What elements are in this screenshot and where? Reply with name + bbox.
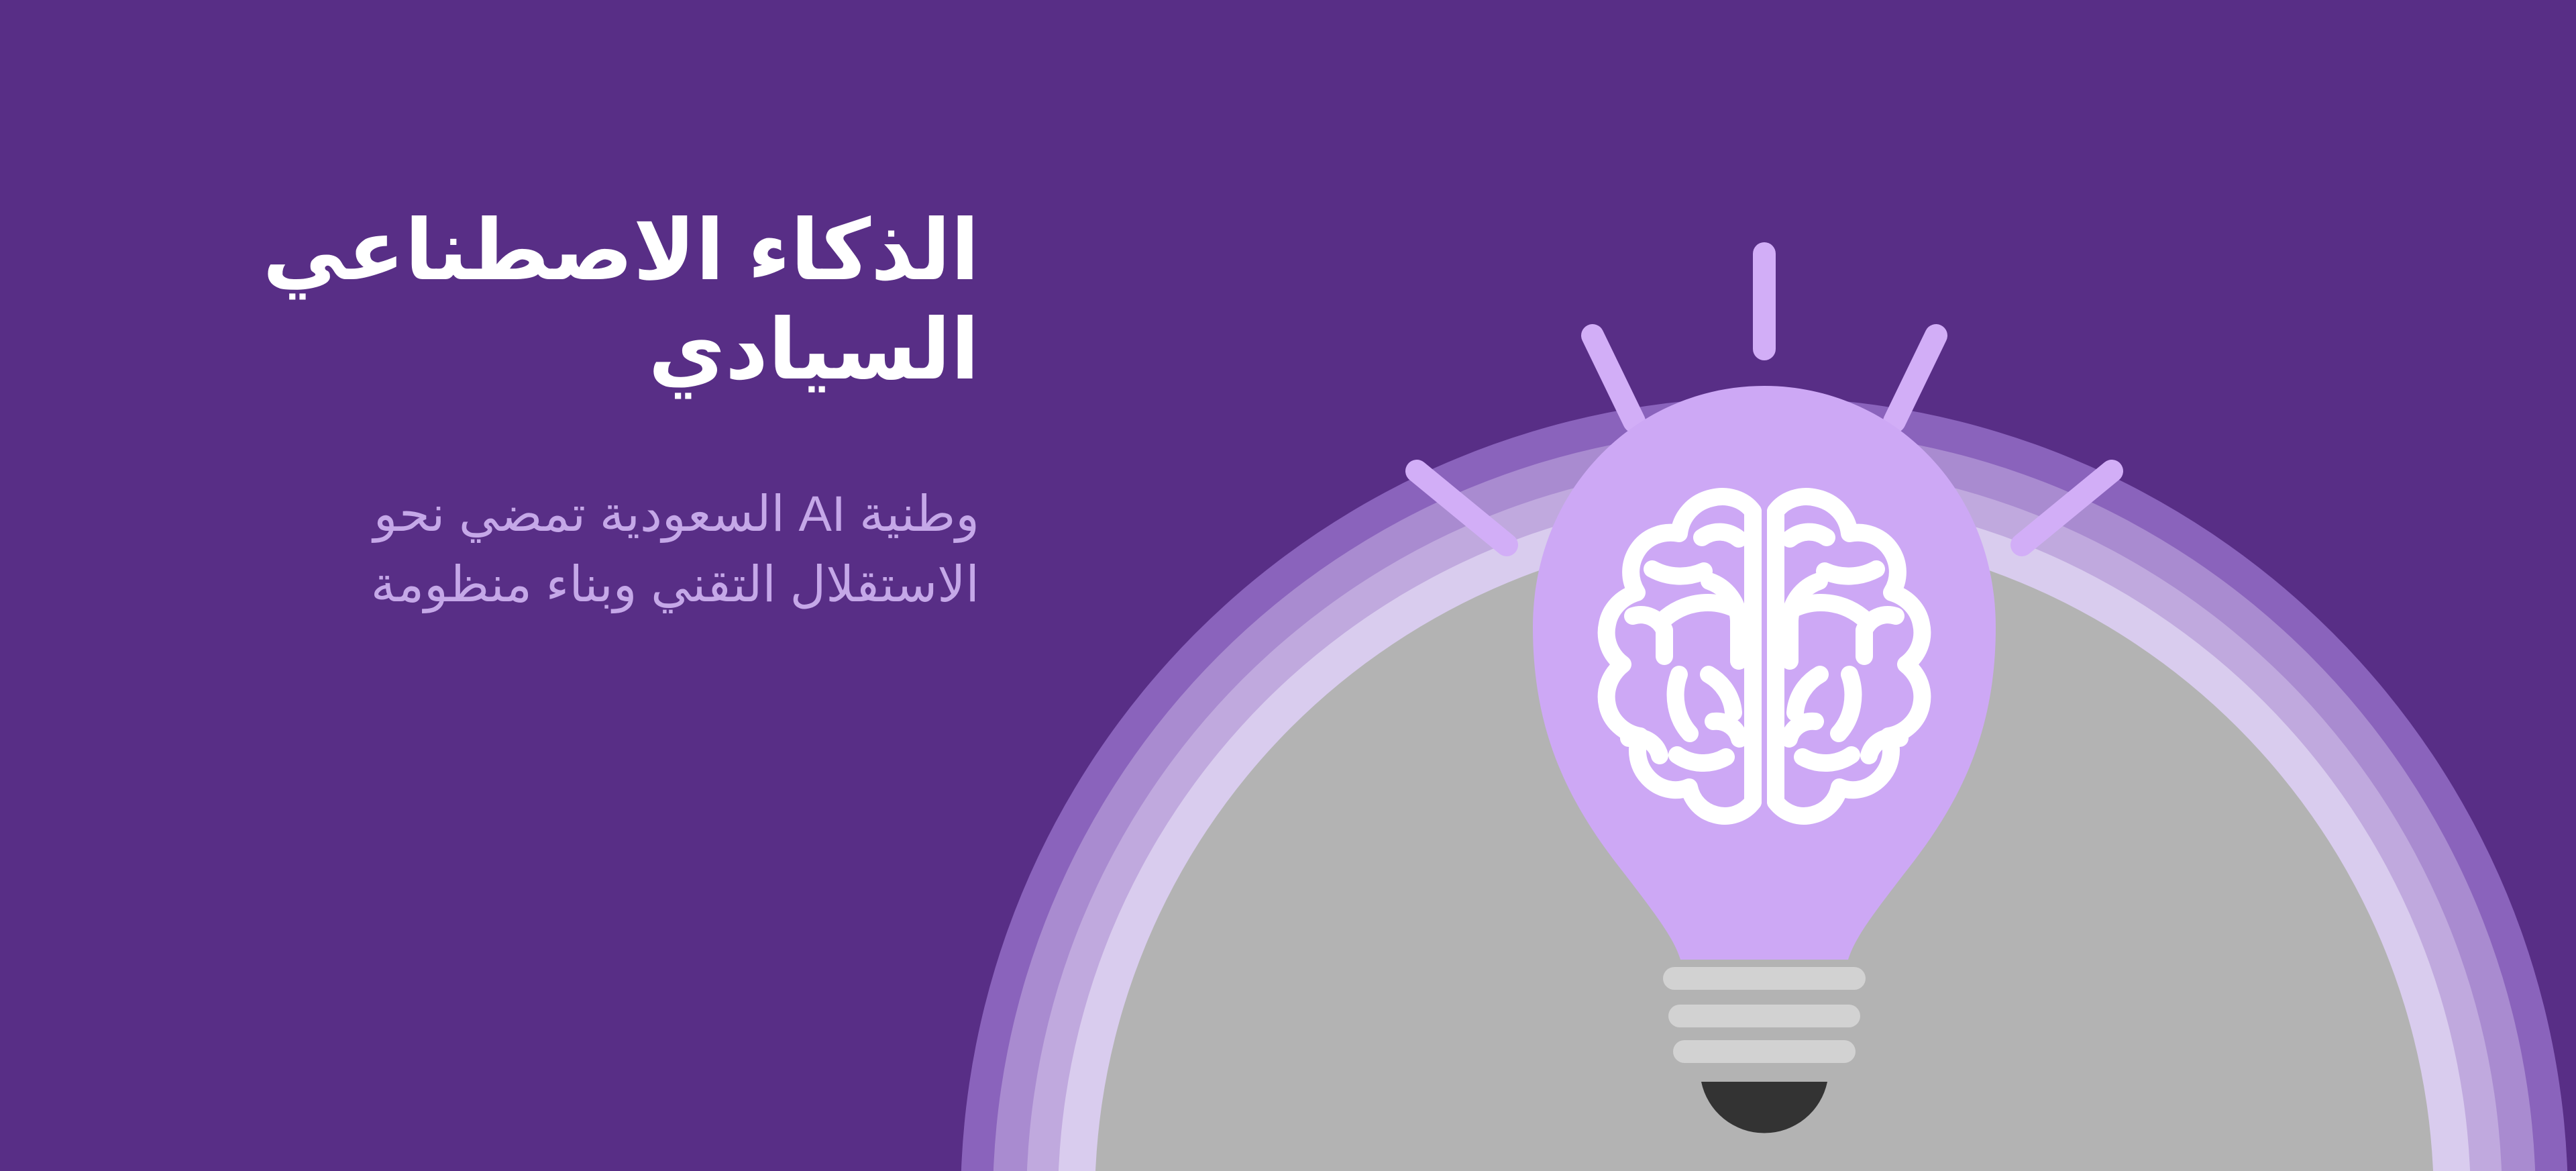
glow-ring-outer	[961, 397, 2568, 1171]
brain-left-fold-10	[1713, 721, 1739, 739]
brain-right-fold-1	[1790, 532, 1827, 539]
brain-right-fold-8	[1869, 737, 1900, 756]
ai-banner: الذكاء الاصطناعي السيادي وطنية AI السعود…	[0, 0, 2576, 1171]
brain-right-fold-2	[1825, 569, 1876, 576]
glow-ring-4	[1058, 495, 2471, 1171]
glow-inner-disc	[1095, 531, 2434, 1171]
brain-right-fold-4	[1864, 615, 1896, 656]
brain-right-fold-9	[1803, 755, 1851, 763]
bulb-tip	[1701, 1082, 1827, 1133]
text-block: الذكاء الاصطناعي السيادي وطنية AI السعود…	[252, 201, 979, 619]
brain-left-fold-8	[1629, 737, 1660, 756]
brain-left-fold-9	[1677, 755, 1726, 763]
brain-left-fold-5	[1662, 603, 1739, 621]
ray-left-icon	[1417, 471, 1507, 545]
ray-top-left-icon	[1593, 336, 1634, 421]
brain-right-outline	[1776, 497, 1922, 816]
brain-right-fold-10	[1789, 721, 1815, 739]
glow-ring-3	[1026, 463, 2502, 1171]
bulb-ridge-1	[1663, 967, 1866, 990]
brain-right-fold-7	[1795, 674, 1820, 713]
brain-left-fold-4	[1633, 615, 1664, 656]
page-title: الذكاء الاصطناعي السيادي	[252, 201, 979, 399]
brain-left-outline	[1607, 497, 1753, 816]
brain-left-fold-7	[1709, 674, 1733, 713]
brain-right-fold-6	[1839, 674, 1853, 733]
brain-left-fold-3	[1709, 581, 1739, 661]
brain-left-fold-1	[1702, 532, 1739, 539]
ray-top-right-icon	[1894, 336, 1936, 421]
glow-ring-2	[993, 429, 2536, 1171]
bulb-ridge-2	[1668, 1005, 1860, 1027]
brain-right-fold-5	[1790, 603, 1866, 621]
light-rays	[1417, 254, 2112, 545]
page-subtitle: وطنية AI السعودية تمضي نحو الاستقلال الت…	[252, 478, 979, 619]
brain-right-fold-3	[1790, 581, 1819, 661]
brain-icon	[1607, 497, 1923, 816]
bulb-glass	[1533, 386, 1996, 960]
bulb-ridge-3	[1673, 1040, 1856, 1063]
brain-left-fold-2	[1652, 569, 1704, 576]
brain-left-fold-6	[1676, 674, 1690, 733]
ray-right-icon	[2022, 471, 2112, 545]
